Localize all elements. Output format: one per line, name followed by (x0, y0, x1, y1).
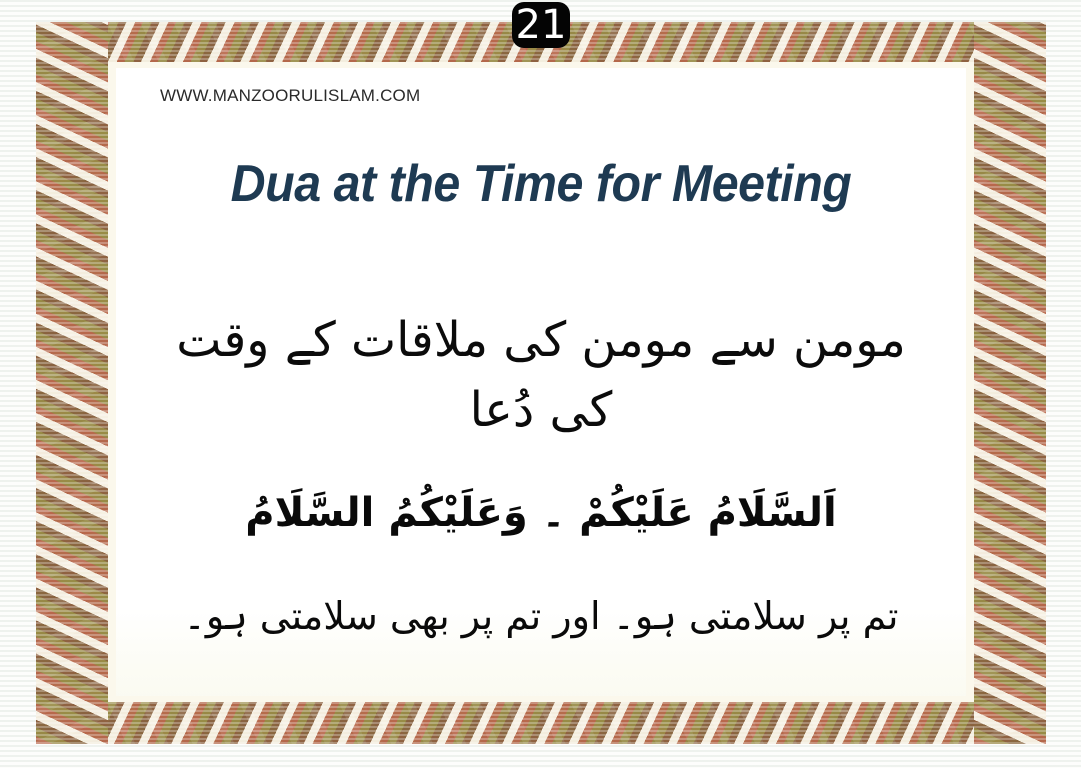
arabic-dua-text: اَلسَّلَامُ عَلَيْكُمْ ۔ وَعَلَيْكُمُ ال… (116, 483, 966, 543)
page-number-badge: 21 (512, 2, 570, 48)
frame-band-left (36, 22, 108, 744)
frame-band-right (974, 22, 1046, 744)
frame-band-bottom (36, 698, 1046, 744)
page-title: Dua at the Time for Meeting (146, 154, 937, 214)
urdu-heading-text: مومن سے مومن کی ملاقات کے وقت کی دُعا (116, 306, 966, 445)
card-content: WWW.MANZOORULISLAM.COM Dua at the Time f… (116, 68, 966, 696)
urdu-translation-text: تم پر سلامتی ہو۔ اور تم پر بھی سلامتی ہو… (116, 588, 966, 645)
decorative-frame: WWW.MANZOORULISLAM.COM Dua at the Time f… (36, 22, 1046, 744)
content-panel: WWW.MANZOORULISLAM.COM Dua at the Time f… (116, 68, 966, 696)
website-watermark: WWW.MANZOORULISLAM.COM (160, 86, 420, 106)
islamic-dua-card-image: 21 WWW.MANZOORULISLAM.COM Dua at the Tim… (0, 0, 1081, 768)
